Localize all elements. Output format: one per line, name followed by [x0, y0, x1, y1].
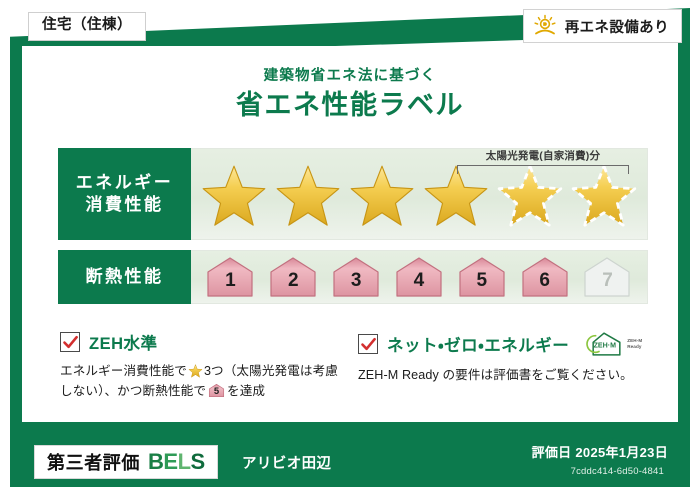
label-main-title: 省エネ性能ラベル: [0, 90, 700, 121]
insulation-level-5-number: 5: [477, 271, 488, 298]
energy-stars-strip: [197, 149, 641, 235]
zeh-standard-section: ZEH水準 エネルギー消費性能で3つ（太陽光発電は考慮しない）、かつ断熱性能で5…: [60, 330, 342, 402]
zeh-desc-part-a: エネルギー消費性能で: [60, 364, 187, 378]
insulation-level-4-number: 4: [414, 271, 425, 298]
bels-logo: BELS: [148, 451, 205, 473]
insulation-level-4: 4: [393, 256, 445, 298]
zeh-standard-title: ZEH水準: [89, 330, 158, 354]
zeh-standard-checkbox[interactable]: [60, 332, 80, 352]
zeh-m-sub-line2: Ready: [627, 344, 641, 349]
zeh-desc-part-c: を達成: [227, 384, 265, 398]
evaluation-date: 評価日 2025年1月23日: [532, 442, 668, 461]
insulation-level-2: 2: [267, 256, 319, 298]
insulation-performance-row: 断熱性能 1 2 3 4 5: [58, 250, 648, 304]
net-zero-energy-checkbox[interactable]: [358, 334, 378, 354]
net-zero-energy-description: ZEH-M Ready の要件は評価書をご覧ください。: [358, 365, 648, 385]
renewable-equipment-label: 再エネ設備あり: [565, 16, 669, 37]
zeh-desc-part-star-count: 3つ（太陽光発電: [204, 364, 300, 378]
energy-performance-row: エネルギー 消費性能: [58, 148, 648, 240]
zeh-standard-description: エネルギー消費性能で3つ（太陽光発電は考慮しない）、かつ断熱性能で5を達成: [60, 361, 342, 402]
net-zero-energy-title: ネット・ゼロ・エネルギー: [387, 332, 569, 356]
star-icon-solar-6: [569, 162, 639, 232]
zeh-m-sub-line1: ZEH-M: [627, 338, 642, 343]
inline-house-icon-5: 5: [208, 383, 225, 398]
net-zero-energy-header: ネット・ゼロ・エネルギー ZEH·M ZEH-M Ready: [358, 330, 648, 358]
energy-stars-panel: 太陽光発電(自家消費)分: [191, 148, 648, 240]
insulation-level-1: 1: [204, 256, 256, 298]
zeh-m-logo: ZEH·M ZEH-M Ready: [584, 330, 642, 358]
star-icon-filled-4: [421, 162, 491, 232]
check-icon: [360, 336, 377, 353]
zeh-m-logo-subtext: ZEH-M Ready: [627, 338, 642, 349]
energy-label-line1: エネルギー: [76, 172, 174, 194]
insulation-level-3-number: 3: [351, 271, 362, 298]
insulation-level-5: 5: [456, 256, 508, 298]
label-title-block: 建築物省エネ法に基づく 省エネ性能ラベル: [0, 68, 700, 121]
building-type-badge: 住宅（住棟）: [28, 12, 146, 41]
inline-star-icon: [188, 364, 203, 379]
energy-performance-label: エネルギー 消費性能: [58, 148, 191, 240]
net-zero-energy-section: ネット・ゼロ・エネルギー ZEH·M ZEH-M Ready ZEH-M Rea…: [358, 330, 648, 385]
renewable-equipment-badge: 再エネ設備あり: [523, 9, 682, 43]
insulation-level-6: 6: [519, 256, 571, 298]
document-id: 7cddc414-6d50-4841: [571, 466, 664, 477]
insulation-label-text: 断熱性能: [86, 266, 164, 288]
inline-house-number: 5: [208, 383, 225, 398]
check-icon: [62, 334, 79, 351]
solar-sun-icon: [532, 14, 558, 38]
zeh-m-house-icon: ZEH·M: [584, 330, 624, 358]
star-icon-filled-1: [199, 162, 269, 232]
insulation-level-2-number: 2: [288, 271, 299, 298]
insulation-level-7-number: 7: [602, 271, 613, 298]
third-party-evaluation-label: 第三者評価: [47, 449, 140, 475]
insulation-levels-panel: 1 2 3 4 5 6 7: [191, 250, 648, 304]
insulation-level-1-number: 1: [225, 271, 236, 298]
zeh-standard-header: ZEH水準: [60, 330, 342, 354]
energy-performance-label: 住宅（住棟） 再エネ設備あり 建築物省エネ法に基づく 省エネ性能ラベル: [0, 0, 700, 495]
bels-certification-badge: 第三者評価 BELS: [34, 445, 218, 479]
star-icon-solar-5: [495, 162, 565, 232]
star-icon-filled-3: [347, 162, 417, 232]
insulation-level-3: 3: [330, 256, 382, 298]
star-icon-filled-2: [273, 162, 343, 232]
energy-label-line2: 消費性能: [86, 194, 164, 216]
svg-text:ZEH·M: ZEH·M: [594, 341, 617, 349]
insulation-performance-label: 断熱性能: [58, 250, 191, 304]
label-subtitle: 建築物省エネ法に基づく: [0, 68, 700, 85]
building-name: アリビオ田辺: [242, 452, 331, 473]
insulation-level-6-number: 6: [539, 271, 550, 298]
insulation-level-7-inactive: 7: [581, 256, 633, 298]
